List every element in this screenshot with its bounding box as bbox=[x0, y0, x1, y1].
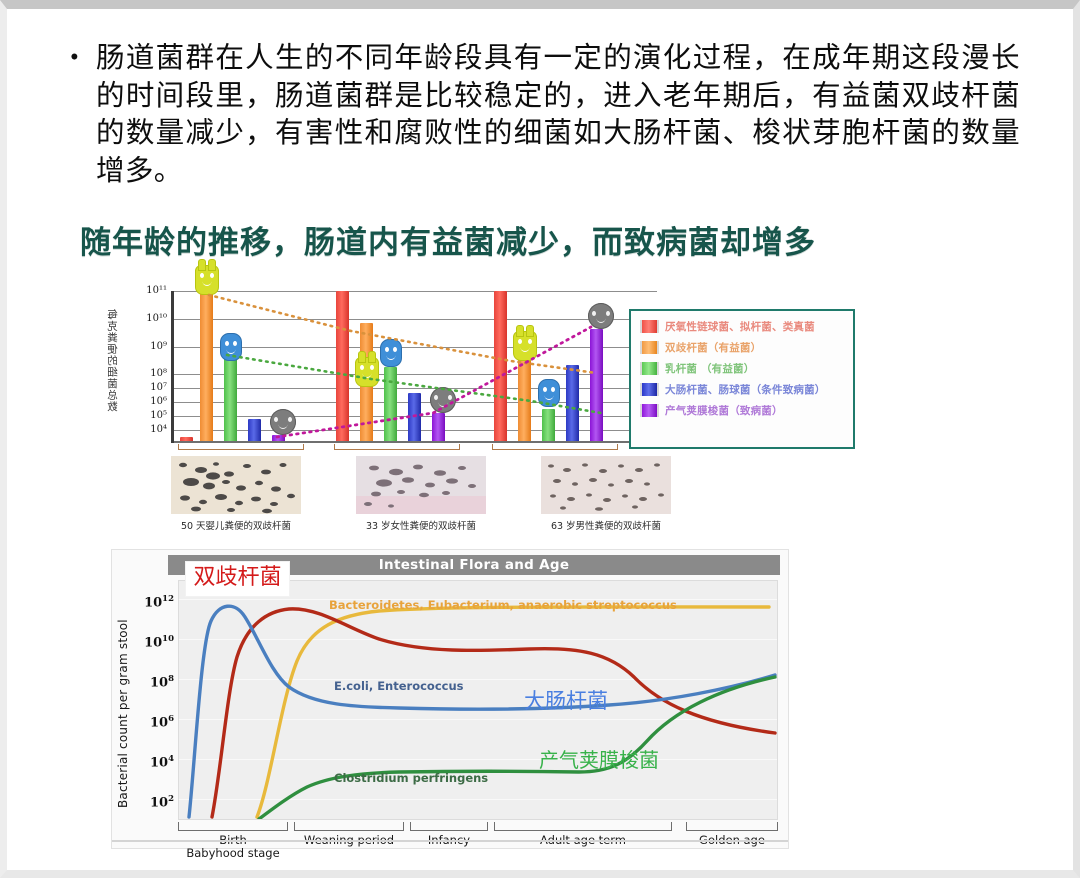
y-tick: 10⁴ bbox=[150, 424, 167, 435]
group-bracket bbox=[492, 444, 618, 450]
slide-canvas: • 肠道菌群在人生的不同年龄段具有一定的演化过程，在成年期这段漫长的时间段里，肠… bbox=[0, 0, 1080, 878]
y-tick: 102 bbox=[150, 794, 174, 810]
line-chart-stage-axis: BirthBabyhood stage Weaning period Infan… bbox=[178, 822, 778, 868]
stage-label: BirthBabyhood stage bbox=[178, 834, 288, 860]
annotation-clostridium: 产气荚膜梭菌 bbox=[539, 744, 659, 773]
bar-chart-title: 随年龄的推移，肠道内有益菌减少，而致病菌却增多 bbox=[80, 217, 880, 262]
curve-clostridium bbox=[259, 677, 775, 819]
annotation-ecoli: 大肠杆菌 bbox=[524, 685, 608, 715]
micrograph-svg bbox=[541, 456, 671, 514]
y-tick: 10⁷ bbox=[150, 382, 167, 393]
bullet-marker: • bbox=[70, 39, 96, 76]
legend-label: 产气荚膜梭菌（致病菌） bbox=[665, 403, 783, 418]
micrograph-svg bbox=[356, 456, 486, 514]
y-tick: 10⁹ bbox=[150, 341, 167, 352]
bar-chart-y-ticks: 10¹¹ 10¹⁰ 10⁹ 10⁸ 10⁷ 10⁶ 10⁵ 10⁴ bbox=[127, 291, 167, 441]
legend-label: 双歧杆菌（有益菌） bbox=[665, 340, 761, 355]
line-chart-plot: Bacteroidetes, Eubacterium, anaerobic st… bbox=[178, 580, 778, 820]
stage-bracket bbox=[294, 822, 404, 831]
group-bracket bbox=[178, 444, 304, 450]
curve-bifidobacterium bbox=[212, 609, 775, 817]
group-bracket bbox=[334, 444, 460, 450]
y-tick: 10⁸ bbox=[150, 368, 167, 379]
legend-item: 厌氧性链球菌、拟杆菌、类真菌 bbox=[640, 319, 847, 334]
bar-chart-trend-lines bbox=[171, 291, 654, 443]
micrograph-row: 50 天婴儿粪便的双歧杆菌 bbox=[171, 456, 671, 536]
micrograph-cell: 63 岁男性粪便的双歧杆菌 bbox=[541, 456, 671, 532]
bar-chart-legend: 厌氧性链球菌、拟杆菌、类真菌 双歧杆菌（有益菌） 乳杆菌 （有益菌） 大肠杆菌、… bbox=[629, 309, 855, 449]
legend-swatch-orange bbox=[640, 341, 659, 354]
y-tick: 104 bbox=[150, 754, 174, 770]
stage-golden: Golden age bbox=[686, 822, 778, 847]
legend-item: 双歧杆菌（有益菌） bbox=[640, 340, 847, 355]
y-tick: 10⁶ bbox=[150, 396, 167, 407]
legend-swatch-purple bbox=[640, 404, 659, 417]
mascot-eye-icon bbox=[200, 273, 204, 278]
annotation-bifidobacterium: 双歧杆菌 bbox=[185, 561, 290, 597]
micrograph-cell: 33 岁女性粪便的双歧杆菌 bbox=[356, 456, 486, 532]
micrograph-svg bbox=[171, 456, 301, 514]
micrograph-image-3 bbox=[541, 456, 671, 514]
legend-swatch-green bbox=[640, 362, 659, 375]
micrograph-caption: 33 岁女性粪便的双歧杆菌 bbox=[356, 518, 486, 532]
stage-bracket bbox=[410, 822, 488, 831]
micrograph-image-1 bbox=[171, 456, 301, 514]
stage-weaning: Weaning period bbox=[294, 822, 404, 847]
mascot-smile-icon bbox=[203, 280, 212, 286]
y-tick: 10¹¹ bbox=[146, 285, 167, 296]
mascot-eye-icon bbox=[210, 273, 214, 278]
legend-item: 乳杆菌 （有益菌） bbox=[640, 361, 847, 376]
y-tick: 1010 bbox=[144, 634, 174, 650]
bar-chart-y-axis-label: 每克粪便的细菌总数 bbox=[105, 309, 120, 439]
stage-bracket bbox=[178, 822, 288, 831]
curve-label-clostridium: Clostridium perfringens bbox=[334, 771, 488, 785]
micrograph-image-2 bbox=[356, 456, 486, 514]
bullet-text: 肠道菌群在人生的不同年龄段具有一定的演化过程，在成年期这段漫长的时间段里，肠道菌… bbox=[96, 39, 1020, 189]
micrograph-caption: 50 天婴儿粪便的双歧杆菌 bbox=[171, 518, 301, 532]
legend-label: 厌氧性链球菌、拟杆菌、类真菌 bbox=[665, 319, 815, 334]
curve-label-bacteroidetes: Bacteroidetes, Eubacterium, anaerobic st… bbox=[329, 598, 677, 612]
bar-chart-figure: 随年龄的推移，肠道内有益菌减少，而致病菌却增多 每克粪便的细菌总数 10¹¹ 1… bbox=[73, 209, 873, 544]
y-tick: 1012 bbox=[144, 594, 174, 610]
line-chart-y-axis-label: Bacterial count per gram stool bbox=[116, 598, 130, 808]
bullet-paragraph: • 肠道菌群在人生的不同年龄段具有一定的演化过程，在成年期这段漫长的时间段里，肠… bbox=[70, 39, 1020, 189]
stage-infancy: Infancy bbox=[410, 822, 488, 847]
legend-item: 大肠杆菌、肠球菌（条件致病菌） bbox=[640, 382, 847, 397]
legend-item: 产气荚膜梭菌（致病菌） bbox=[640, 403, 847, 418]
legend-swatch-red bbox=[640, 320, 659, 333]
stage-bracket bbox=[494, 822, 672, 831]
line-chart-y-ticks: 1012 1010 108 106 104 102 bbox=[134, 582, 174, 820]
figure-bottom-rule bbox=[112, 840, 788, 842]
line-chart-figure: Intestinal Flora and Age Bacterial count… bbox=[111, 549, 789, 849]
y-tick: 10¹⁰ bbox=[146, 313, 167, 324]
legend-swatch-blue bbox=[640, 383, 659, 396]
stage-bracket bbox=[686, 822, 778, 831]
y-tick: 10⁵ bbox=[150, 410, 167, 421]
legend-label: 大肠杆菌、肠球菌（条件致病菌） bbox=[665, 382, 826, 397]
micrograph-caption: 63 岁男性粪便的双歧杆菌 bbox=[541, 518, 671, 532]
micrograph-cell: 50 天婴儿粪便的双歧杆菌 bbox=[171, 456, 301, 532]
y-tick: 108 bbox=[150, 674, 174, 690]
y-tick: 106 bbox=[150, 714, 174, 730]
stage-adult: Adult age term bbox=[494, 822, 672, 847]
trend-line-clostridium bbox=[277, 327, 591, 437]
legend-label: 乳杆菌 （有益菌） bbox=[665, 361, 754, 376]
bar-chart-plot-area: 每克粪便的细菌总数 10¹¹ 10¹⁰ 10⁹ 10⁸ 10⁷ 10⁶ 10⁵ … bbox=[109, 291, 669, 461]
curve-label-ecoli: E.coli, Enterococcus bbox=[334, 679, 464, 693]
trend-line-lactobacillus bbox=[227, 355, 601, 413]
